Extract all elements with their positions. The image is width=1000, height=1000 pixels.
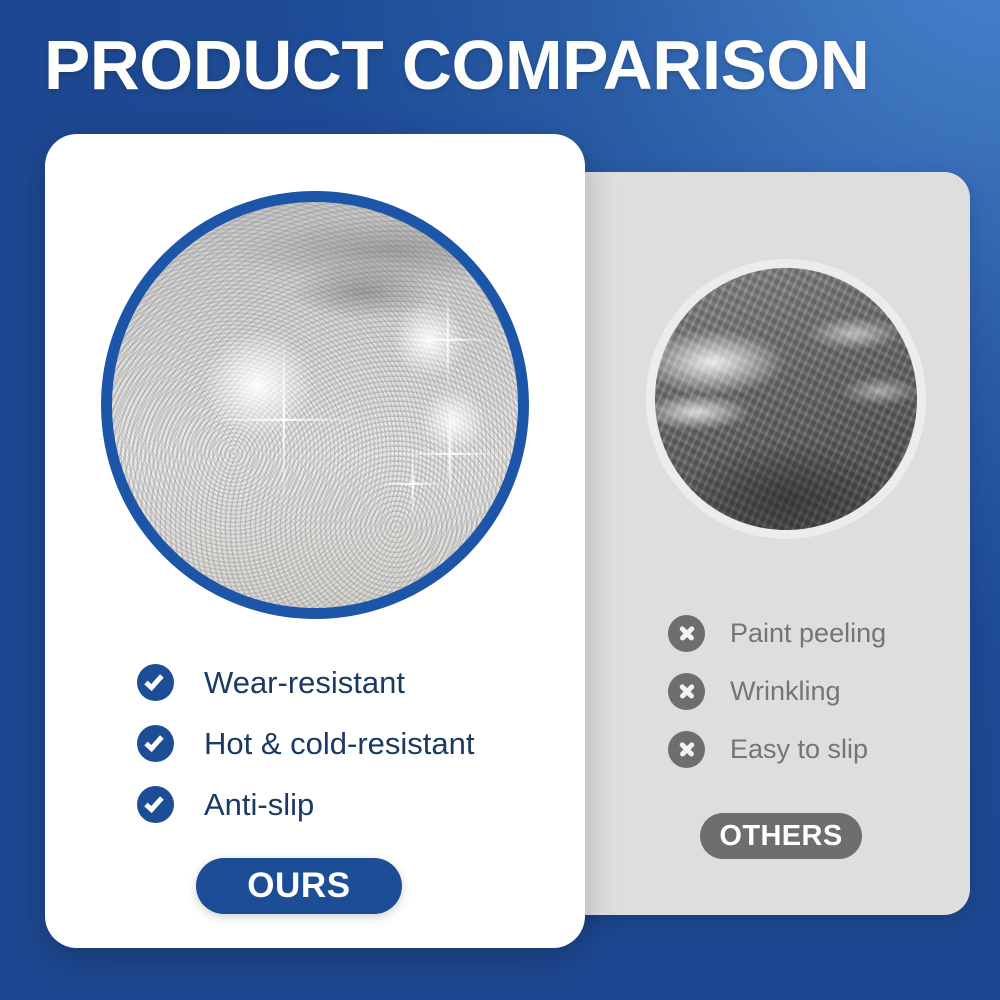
ours-feature-label: Anti-slip: [204, 788, 314, 822]
list-item: Anti-slip: [137, 774, 475, 835]
list-item: Easy to slip: [668, 720, 886, 778]
list-item: Wrinkling: [668, 662, 886, 720]
x-circle-icon: [668, 673, 705, 710]
check-circle-icon: [137, 786, 174, 823]
others-feature-label: Wrinkling: [730, 676, 841, 706]
sparkle-icon: [204, 330, 364, 510]
ours-badge: OURS: [196, 858, 402, 914]
list-item: Wear-resistant: [137, 652, 475, 713]
ours-feature-label: Wear-resistant: [204, 666, 405, 700]
sparkle-icon: [402, 288, 494, 392]
others-feature-list: Paint peeling Wrinkling Easy to slip: [668, 604, 886, 778]
check-circle-icon: [137, 664, 174, 701]
list-item: Paint peeling: [668, 604, 886, 662]
others-product-photo: [655, 268, 917, 530]
check-circle-icon: [137, 725, 174, 762]
page-title: PRODUCT COMPARISON: [44, 26, 955, 104]
others-feature-label: Paint peeling: [730, 618, 886, 648]
comparison-infographic: PRODUCT COMPARISON Paint peeling Wrinkli…: [0, 0, 1000, 1000]
ours-product-photo: [101, 191, 529, 619]
sparkle-icon: [398, 398, 502, 510]
sparkle-icon: [380, 448, 446, 520]
list-item: Hot & cold-resistant: [137, 713, 475, 774]
others-feature-label: Easy to slip: [730, 734, 868, 764]
x-circle-icon: [668, 731, 705, 768]
ours-feature-list: Wear-resistant Hot & cold-resistant Anti…: [137, 652, 475, 835]
ours-feature-label: Hot & cold-resistant: [204, 727, 475, 761]
x-circle-icon: [668, 615, 705, 652]
others-badge: OTHERS: [700, 813, 862, 859]
